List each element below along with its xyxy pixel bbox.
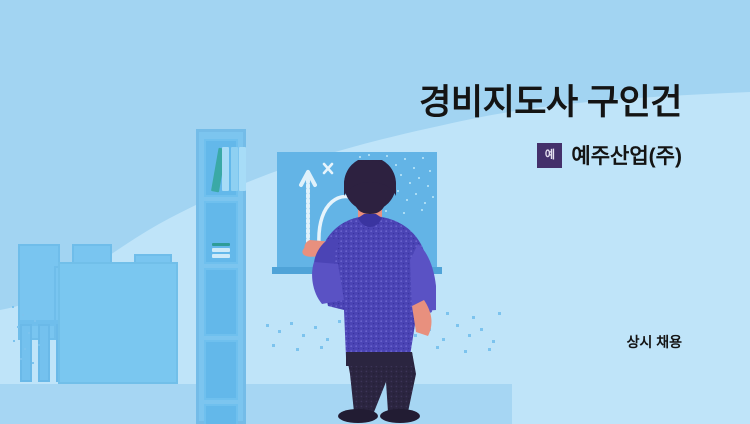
bookshelf-shelf-3: [204, 268, 238, 336]
company-row: 예 예주산업(주): [537, 140, 682, 170]
paper-stack-2: [212, 248, 230, 252]
bookshelf-shelf-5: [204, 404, 238, 424]
book-3: [239, 147, 246, 191]
status-badge: 상시 채용: [627, 332, 682, 352]
person-shoe-left: [338, 409, 378, 423]
bookshelf-shelf-2: [204, 201, 238, 264]
illustration-person: [300, 160, 480, 424]
bookshelf-shelf-4: [204, 340, 238, 400]
radiator-fin-2: [38, 324, 50, 382]
company-name: 예주산업(주): [571, 140, 682, 170]
low-desk: [58, 262, 178, 384]
job-posting-banner: 경비지도사 구인건 예 예주산업(주) 상시 채용: [0, 0, 750, 424]
book-1: [222, 147, 229, 191]
paper-stack-3: [212, 254, 230, 258]
page-title: 경비지도사 구인건: [419, 74, 682, 125]
bookshelf: [196, 129, 246, 424]
paper-stack-1: [212, 243, 230, 246]
company-badge-icon: 예: [537, 143, 562, 168]
radiator-fin-1: [20, 324, 32, 382]
book-2: [231, 147, 238, 191]
bookshelf-shelf-1: [204, 139, 238, 197]
person-shoe-right: [380, 409, 420, 423]
